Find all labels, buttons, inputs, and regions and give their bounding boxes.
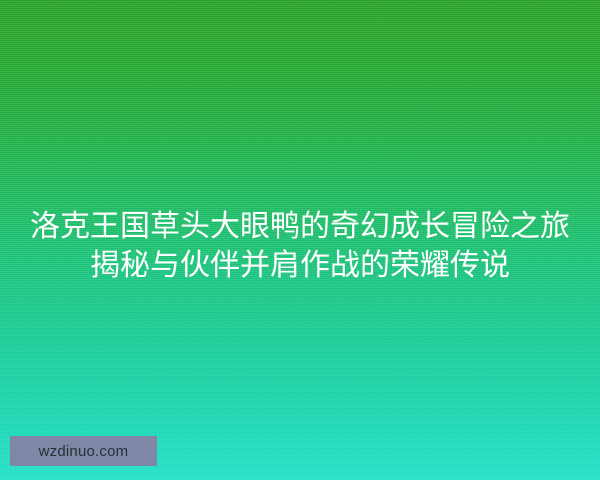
headline-title: 洛克王国草头大眼鸭的奇幻成长冒险之旅 揭秘与伙伴并肩作战的荣耀传说	[0, 207, 600, 285]
headline-line-2: 揭秘与伙伴并肩作战的荣耀传说	[0, 246, 600, 285]
watermark-badge: wzdinuo.com	[10, 436, 157, 466]
headline-line-1: 洛克王国草头大眼鸭的奇幻成长冒险之旅	[0, 207, 600, 246]
cover-canvas: 洛克王国草头大眼鸭的奇幻成长冒险之旅 揭秘与伙伴并肩作战的荣耀传说 wzdinu…	[0, 0, 600, 480]
watermark-label: wzdinuo.com	[39, 444, 129, 459]
